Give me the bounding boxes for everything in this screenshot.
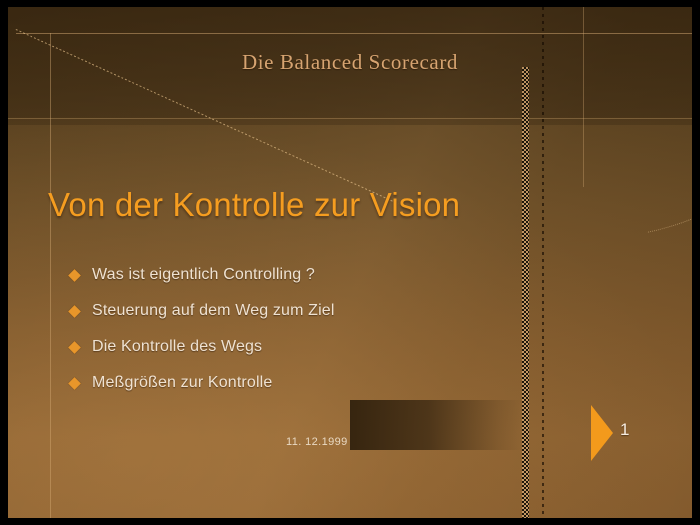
decorative-dashed-line [542, 7, 544, 518]
list-item-label: Was ist eigentlich Controlling ? [92, 266, 315, 284]
decorative-vertical-line-left [50, 33, 51, 518]
slide-header-title: Die Balanced Scorecard [8, 50, 692, 75]
slide-footer-date: 11. 12.1999 [286, 436, 348, 448]
slide-bullet-list: Was ist eigentlich Controlling ? Steueru… [70, 257, 500, 401]
decorative-vertical-line-right [583, 7, 584, 187]
diamond-bullet-icon [68, 341, 81, 354]
slide-main-heading: Von der Kontrolle zur Vision [48, 186, 460, 224]
slide-page-number: 1 [620, 420, 629, 440]
page-arrow-icon [591, 405, 613, 461]
presentation-slide-frame: Die Balanced Scorecard Von der Kontrolle… [0, 0, 700, 525]
decorative-checkered-strip [522, 67, 529, 518]
slide-canvas: Die Balanced Scorecard Von der Kontrolle… [8, 7, 692, 518]
list-item: Was ist eigentlich Controlling ? [70, 257, 500, 293]
list-item: Steuerung auf dem Weg zum Ziel [70, 293, 500, 329]
diamond-bullet-icon [68, 377, 81, 390]
footer-dark-plate [350, 400, 524, 450]
diamond-bullet-icon [68, 269, 81, 282]
diamond-bullet-icon [68, 305, 81, 318]
decorative-horizontal-line-band [8, 118, 692, 119]
list-item-label: Steuerung auf dem Weg zum Ziel [92, 302, 335, 320]
list-item: Die Kontrolle des Wegs [70, 329, 500, 365]
list-item: Meßgrößen zur Kontrolle [70, 365, 500, 401]
decorative-horizontal-line-top [16, 33, 692, 34]
list-item-label: Die Kontrolle des Wegs [92, 338, 262, 356]
list-item-label: Meßgrößen zur Kontrolle [92, 374, 272, 392]
